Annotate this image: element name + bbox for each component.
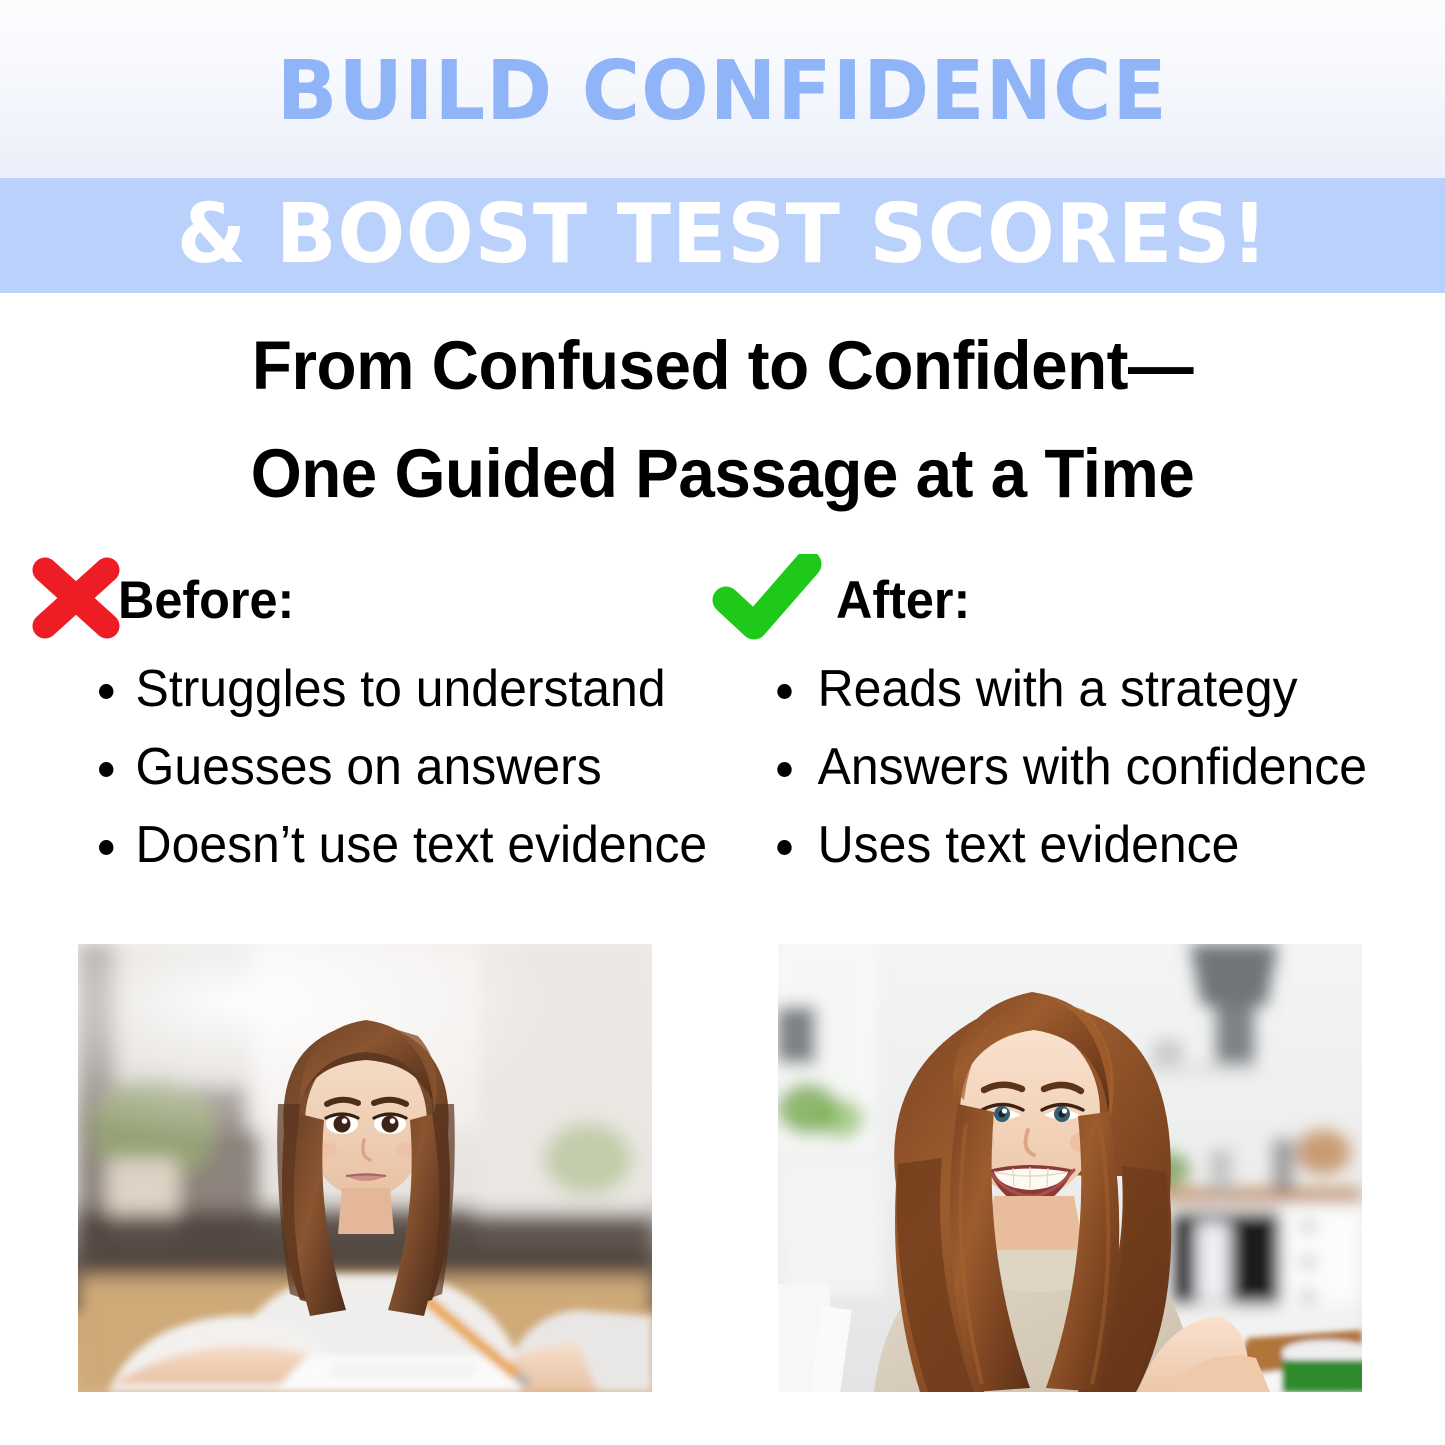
bullet-text: Reads with a strategy: [818, 660, 1298, 718]
headline-build-confidence: BUILD CONFIDENCE: [277, 51, 1168, 133]
list-item: Struggles to understand: [28, 650, 700, 728]
subtitle-line-1: From Confused to Confident—: [36, 312, 1409, 420]
subtitle-line-2: One Guided Passage at a Time: [36, 420, 1409, 528]
after-heading-row: After:: [712, 552, 1432, 644]
subtitle: From Confused to Confident— One Guided P…: [0, 312, 1445, 528]
before-title: Before:: [118, 574, 294, 627]
red-x-icon: [28, 554, 124, 642]
after-bullet-list: Reads with a strategy Answers with confi…: [712, 650, 1432, 884]
list-item: Answers with confidence: [712, 728, 1403, 806]
after-column: After: Reads with a strategy Answers wit…: [712, 552, 1432, 884]
bullet-dot-icon: [777, 684, 791, 699]
before-heading-row: Before:: [28, 552, 728, 644]
bullet-text: Uses text evidence: [818, 816, 1240, 874]
bullet-text: Struggles to understand: [136, 660, 666, 718]
bullet-text: Doesn’t use text evidence: [136, 816, 708, 874]
list-item: Guesses on answers: [28, 728, 700, 806]
bullet-dot-icon: [777, 840, 791, 855]
after-title: After:: [836, 574, 970, 627]
bullet-dot-icon: [99, 684, 113, 699]
list-item: Uses text evidence: [712, 806, 1403, 884]
comparison-columns: Before: Struggles to understand Guesses …: [0, 552, 1445, 892]
header-top-gradient: BUILD CONFIDENCE: [0, 0, 1445, 178]
before-bullet-list: Struggles to understand Guesses on answe…: [28, 650, 728, 884]
bullet-dot-icon: [777, 762, 791, 777]
bullet-text: Guesses on answers: [136, 738, 602, 796]
bullet-dot-icon: [99, 762, 113, 777]
photo-girl-smiling-in-kitchen: [778, 944, 1362, 1392]
list-item: Reads with a strategy: [712, 650, 1403, 728]
headline-boost-test-scores: & BOOST TEST SCORES!: [177, 194, 1269, 276]
list-item: Doesn’t use text evidence: [28, 806, 700, 884]
bullet-text: Answers with confidence: [818, 738, 1367, 796]
photo-girl-writing-at-desk: [78, 944, 652, 1392]
header-blue-band: & BOOST TEST SCORES!: [0, 178, 1445, 293]
bullet-dot-icon: [99, 840, 113, 855]
green-check-icon: [712, 554, 822, 642]
before-column: Before: Struggles to understand Guesses …: [28, 552, 728, 884]
